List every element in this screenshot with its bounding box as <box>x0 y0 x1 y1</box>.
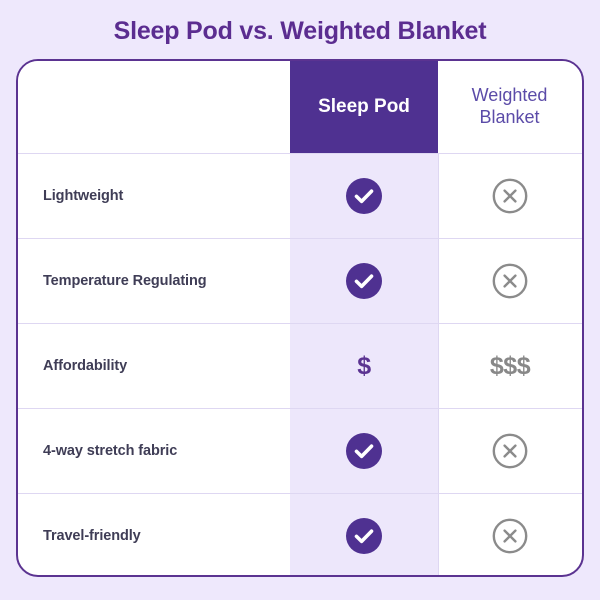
header-cell-feature <box>18 61 290 153</box>
header-cell-sleep-pod: Sleep Pod <box>290 61 438 153</box>
header-label-sleep-pod: Sleep Pod <box>318 96 410 118</box>
table-row: Affordability $ $$$ <box>18 323 582 408</box>
feature-label: Travel-friendly <box>43 528 141 544</box>
feature-cell: Affordability <box>18 324 290 408</box>
header-cell-weighted-blanket: Weighted Blanket <box>438 61 581 153</box>
value-cell-sleep-pod <box>290 409 438 493</box>
feature-label: Temperature Regulating <box>43 273 207 289</box>
table-row: Temperature Regulating <box>18 238 582 323</box>
feature-cell: Travel-friendly <box>18 494 290 577</box>
feature-label: 4-way stretch fabric <box>43 443 177 459</box>
price-indicator-weighted-blanket: $$$ <box>490 352 530 381</box>
value-cell-sleep-pod <box>290 239 438 323</box>
page-title: Sleep Pod vs. Weighted Blanket <box>114 17 487 46</box>
feature-cell: Lightweight <box>18 154 290 238</box>
table-grid: Sleep Pod Weighted Blanket Lightweight <box>18 61 582 575</box>
x-circle-icon <box>492 433 528 469</box>
feature-cell: Temperature Regulating <box>18 239 290 323</box>
value-cell-sleep-pod <box>290 154 438 238</box>
table-row: Travel-friendly <box>18 493 582 577</box>
value-cell-sleep-pod <box>290 494 438 577</box>
feature-label: Affordability <box>43 358 127 374</box>
value-cell-sleep-pod: $ <box>290 324 438 408</box>
comparison-page: Sleep Pod vs. Weighted Blanket Sleep Pod… <box>0 0 600 600</box>
check-circle-icon <box>346 518 382 554</box>
feature-cell: 4-way stretch fabric <box>18 409 290 493</box>
table-row: 4-way stretch fabric <box>18 408 582 493</box>
feature-label: Lightweight <box>43 188 123 204</box>
value-cell-weighted-blanket <box>438 494 581 577</box>
check-circle-icon <box>346 178 382 214</box>
x-circle-icon <box>492 263 528 299</box>
x-circle-icon <box>492 178 528 214</box>
value-cell-weighted-blanket: $$$ <box>438 324 581 408</box>
check-circle-icon <box>346 263 382 299</box>
header-label-weighted-blanket: Weighted Blanket <box>455 85 565 128</box>
comparison-table: Sleep Pod Weighted Blanket Lightweight <box>16 59 584 577</box>
value-cell-weighted-blanket <box>438 409 581 493</box>
table-row: Lightweight <box>18 153 582 238</box>
table-header-row: Sleep Pod Weighted Blanket <box>18 61 582 153</box>
check-circle-icon <box>346 433 382 469</box>
value-cell-weighted-blanket <box>438 154 581 238</box>
price-indicator-sleep-pod: $ <box>357 352 370 381</box>
value-cell-weighted-blanket <box>438 239 581 323</box>
x-circle-icon <box>492 518 528 554</box>
